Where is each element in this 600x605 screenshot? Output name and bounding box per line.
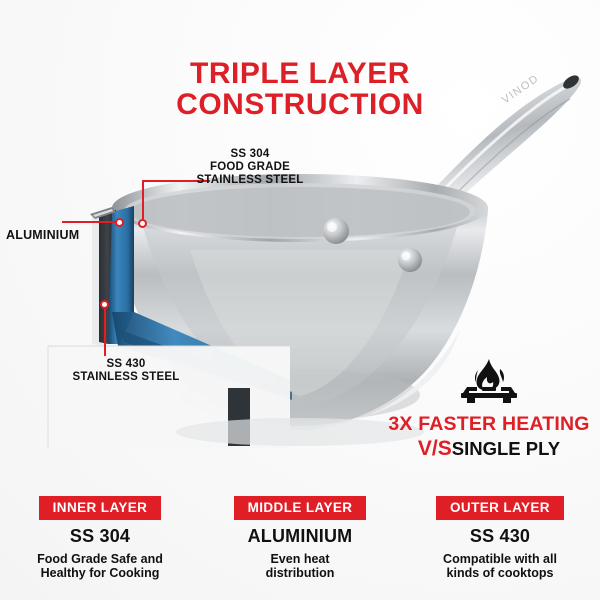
card-outer-banner: OUTER LAYER	[436, 496, 564, 520]
infographic-canvas: TRIPLE LAYER CONSTRUCTION	[0, 0, 600, 600]
callout-ss304: SS 304 FOOD GRADE STAINLESS STEEL	[175, 148, 325, 187]
faster-heating-block: 3X FASTER HEATING V/SSINGLE PLY	[380, 357, 598, 461]
leader-aluminium	[62, 221, 120, 223]
gas-burner-flame-icon	[380, 357, 598, 409]
callout-ss304-line1: SS 304	[175, 148, 325, 161]
card-inner-material: SS 304	[0, 526, 200, 547]
card-middle-material: ALUMINIUM	[200, 526, 400, 547]
callout-ss304-line3: STAINLESS STEEL	[175, 174, 325, 187]
card-outer-desc-line2: kinds of cooktops	[400, 566, 600, 580]
faster-heating-headline: 3X FASTER HEATING	[380, 413, 598, 436]
card-outer-desc: Compatible with all kinds of cooktops	[400, 552, 600, 580]
callout-ss304-line2: FOOD GRADE	[175, 161, 325, 174]
card-middle-layer: MIDDLE LAYER ALUMINIUM Even heat distrib…	[200, 496, 400, 600]
leader-ss304-vertical	[142, 180, 144, 222]
callout-ss430-line1: SS 430	[55, 358, 197, 371]
card-inner-banner: INNER LAYER	[39, 496, 162, 520]
layer-cards: INNER LAYER SS 304 Food Grade Safe and H…	[0, 496, 600, 600]
rivet-2	[398, 248, 422, 272]
card-middle-desc-line1: Even heat	[200, 552, 400, 566]
callout-ss430-line2: STAINLESS STEEL	[55, 371, 197, 384]
card-outer-layer: OUTER LAYER SS 430 Compatible with all k…	[400, 496, 600, 600]
card-middle-desc: Even heat distribution	[200, 552, 400, 580]
callout-ss430: SS 430 STAINLESS STEEL	[55, 358, 197, 384]
callout-aluminium: ALUMINIUM	[6, 229, 79, 242]
card-inner-layer: INNER LAYER SS 304 Food Grade Safe and H…	[0, 496, 200, 600]
card-inner-desc: Food Grade Safe and Healthy for Cooking	[0, 552, 200, 580]
leader-dot-ss304	[138, 219, 147, 228]
leader-dot-ss430	[100, 300, 109, 309]
leader-dot-aluminium	[115, 218, 124, 227]
card-inner-desc-line1: Food Grade Safe and	[0, 552, 200, 566]
leader-ss430	[104, 306, 106, 356]
card-middle-desc-line2: distribution	[200, 566, 400, 580]
versus-label: V/S	[418, 437, 452, 460]
faster-heating-comparison: V/SSINGLE PLY	[380, 437, 598, 461]
card-middle-banner: MIDDLE LAYER	[234, 496, 367, 520]
callout-aluminium-label: ALUMINIUM	[6, 229, 79, 242]
rivet-1	[323, 218, 349, 244]
single-ply-label: SINGLE PLY	[452, 438, 560, 459]
card-inner-desc-line2: Healthy for Cooking	[0, 566, 200, 580]
card-outer-material: SS 430	[400, 526, 600, 547]
card-outer-desc-line1: Compatible with all	[400, 552, 600, 566]
